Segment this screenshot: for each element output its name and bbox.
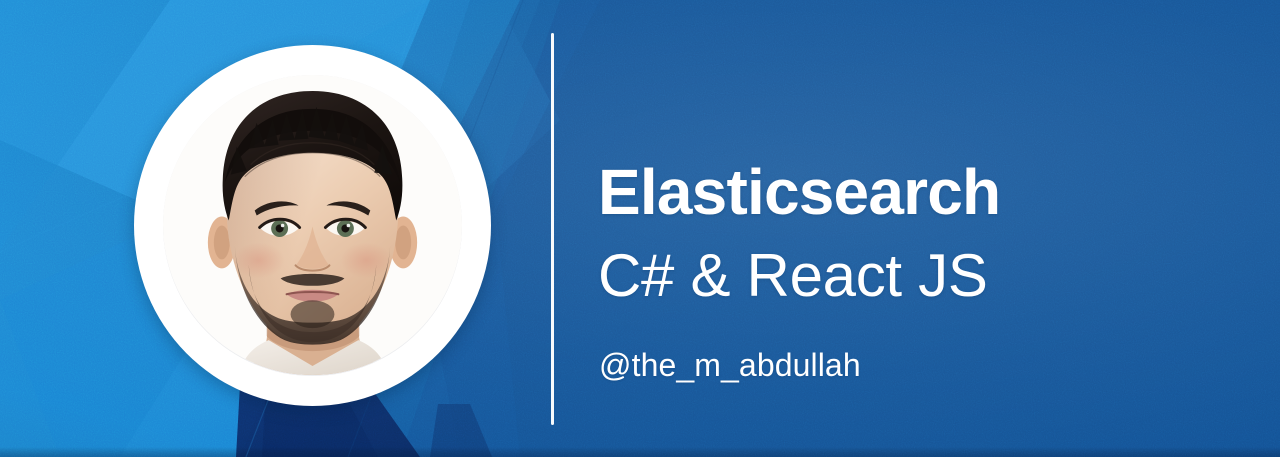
avatar-photo: [163, 75, 462, 376]
text-block: Elasticsearch C# & React JS @the_m_abdul…: [598, 0, 1238, 457]
subheadline: C# & React JS: [598, 244, 988, 308]
vertical-divider: [551, 33, 554, 425]
avatar: [134, 45, 491, 406]
social-handle: @the_m_abdullah: [599, 346, 861, 384]
headline: Elasticsearch: [598, 158, 1000, 226]
promo-banner: Elasticsearch C# & React JS @the_m_abdul…: [0, 0, 1280, 457]
